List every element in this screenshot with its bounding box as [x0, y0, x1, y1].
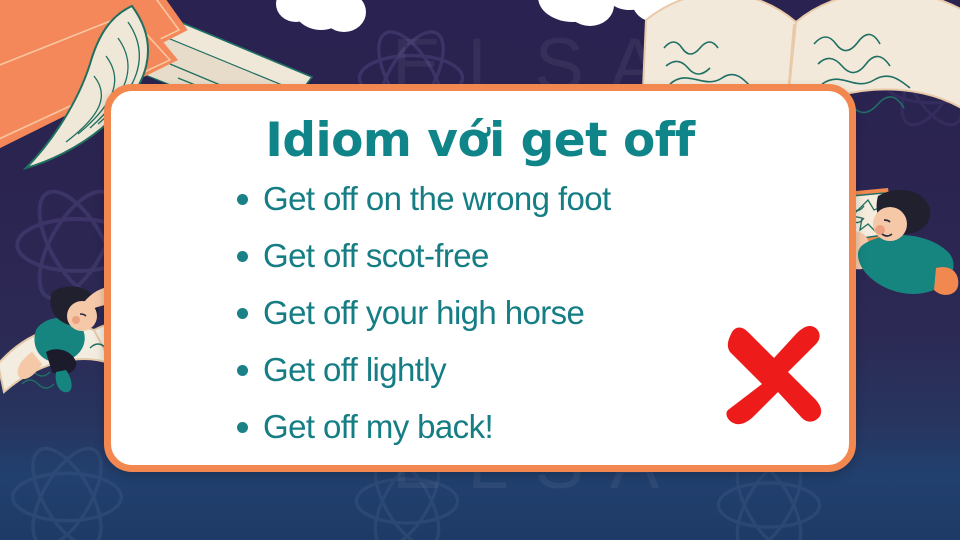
list-item-label: Get off your high horse [263, 294, 584, 331]
bullet-dot-icon [237, 194, 248, 205]
list-item: Get off on the wrong foot [263, 170, 849, 227]
page-title: Idiom với get off [111, 113, 849, 168]
bullet-dot-icon [237, 365, 248, 376]
bullet-dot-icon [237, 422, 248, 433]
slide-canvas: ELSA ELSA [0, 0, 960, 540]
red-x-mark-icon [718, 326, 828, 426]
list-item-label: Get off my back! [263, 408, 493, 445]
list-item: Get off scot-free [263, 227, 849, 284]
list-item-label: Get off lightly [263, 351, 446, 388]
list-item-label: Get off on the wrong foot [263, 180, 611, 217]
list-item-label: Get off scot-free [263, 237, 489, 274]
bullet-dot-icon [237, 251, 248, 262]
cloud-shape [566, 0, 614, 26]
bullet-dot-icon [237, 308, 248, 319]
